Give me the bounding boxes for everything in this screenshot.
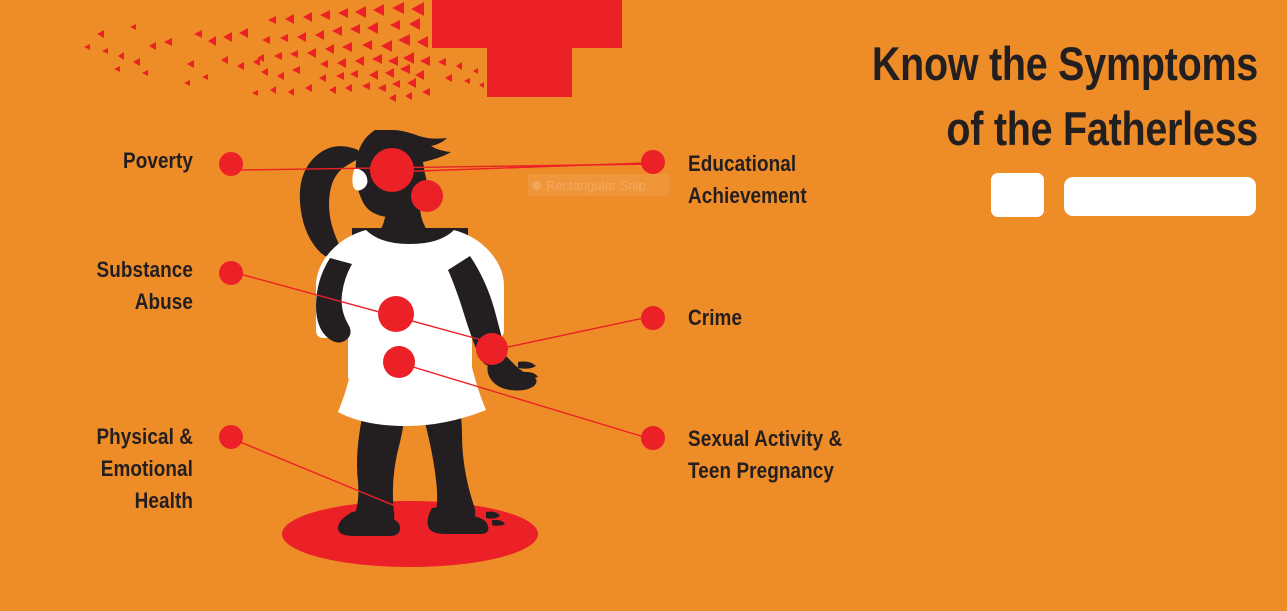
red-block-icon [432, 0, 622, 97]
redacted-logo-bar [1064, 177, 1256, 216]
dot-education-icon [641, 150, 665, 174]
chest-marker-icon [378, 296, 414, 332]
dispersing-triangles-icon [84, 2, 484, 102]
dot-sexual-icon [641, 426, 665, 450]
redacted-logo-square [991, 173, 1044, 217]
snip-cursor-icon [532, 181, 541, 190]
dot-substance-icon [219, 261, 243, 285]
head-marker-icon [370, 148, 414, 192]
callout-label-educational-achievement: Educational Achievement [688, 148, 963, 212]
fingers-2 [522, 372, 538, 379]
callout-label-crime: Crime [688, 302, 963, 334]
page-title: Know the Symptoms of the Fatherless [720, 32, 1258, 162]
snip-tool-tooltip: Rectangular Snip [528, 174, 669, 196]
throat-marker-icon [411, 180, 443, 212]
callout-label-sexual-activity-teen-pregnancy: Sexual Activity & Teen Pregnancy [688, 423, 972, 487]
red-ellipse-shadow-icon [282, 501, 538, 567]
dot-physical-icon [219, 425, 243, 449]
callout-label-poverty: Poverty [0, 145, 193, 177]
infographic-canvas: Know the Symptoms of the Fatherless Pove… [0, 0, 1287, 611]
fingers [518, 362, 536, 369]
callout-label-substance-abuse: Substance Abuse [0, 254, 193, 318]
dot-crime-icon [641, 306, 665, 330]
abdomen-marker-icon [383, 346, 415, 378]
line-crime [494, 318, 644, 350]
wrist-marker-icon [476, 333, 508, 365]
snip-tool-tooltip-label: Rectangular Snip [546, 179, 646, 192]
dot-poverty-icon [219, 152, 243, 176]
callout-label-physical-emotional-health: Physical & Emotional Health [0, 421, 193, 517]
